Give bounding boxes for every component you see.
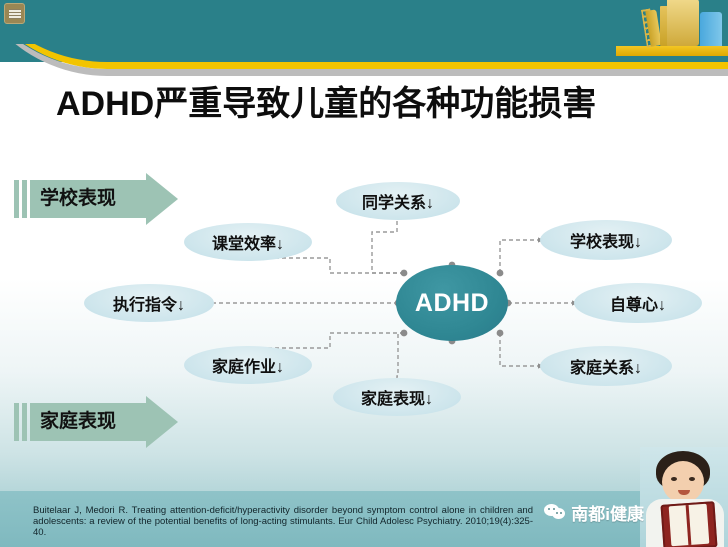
node-peer-relations[interactable]: 同学关系↓ xyxy=(336,182,460,220)
node-label: 家庭作业↓ xyxy=(212,353,284,377)
photo-face xyxy=(662,461,704,503)
node-label: 执行指令↓ xyxy=(113,291,185,315)
node-class-efficiency[interactable]: 课堂效率↓ xyxy=(184,223,312,261)
node-school-performance[interactable]: 学校表现↓ xyxy=(540,220,672,260)
node-follow-instructions[interactable]: 执行指令↓ xyxy=(84,284,214,322)
watermark-text: 南都i健康 xyxy=(571,500,644,525)
node-family-performance[interactable]: 家庭表现↓ xyxy=(333,378,461,416)
watermark: 南都i健康 xyxy=(544,500,644,525)
node-label: 家庭表现↓ xyxy=(361,385,433,409)
photo-eye xyxy=(689,477,695,481)
citation-text: Buitelaar J, Medori R. Treating attentio… xyxy=(33,505,533,538)
photo-eye xyxy=(671,477,677,481)
node-label: 家庭关系↓ xyxy=(570,354,642,378)
node-homework[interactable]: 家庭作业↓ xyxy=(184,346,312,384)
wechat-icon xyxy=(544,504,566,521)
node-label: 学校表现↓ xyxy=(570,228,642,252)
node-center-label: ADHD xyxy=(415,289,489,318)
node-family-relations[interactable]: 家庭关系↓ xyxy=(540,346,672,386)
child-photo xyxy=(640,447,728,547)
node-label: 同学关系↓ xyxy=(362,189,434,213)
node-adhd-center[interactable]: ADHD xyxy=(396,265,508,341)
node-label: 课堂效率↓ xyxy=(212,230,284,254)
diagram-connectors xyxy=(0,0,728,547)
node-self-esteem[interactable]: 自尊心↓ xyxy=(574,283,702,323)
slide: ADHD严重导致儿童的各种功能损害 学校表现 家庭表现 xyxy=(0,0,728,547)
node-label: 自尊心↓ xyxy=(610,291,666,315)
